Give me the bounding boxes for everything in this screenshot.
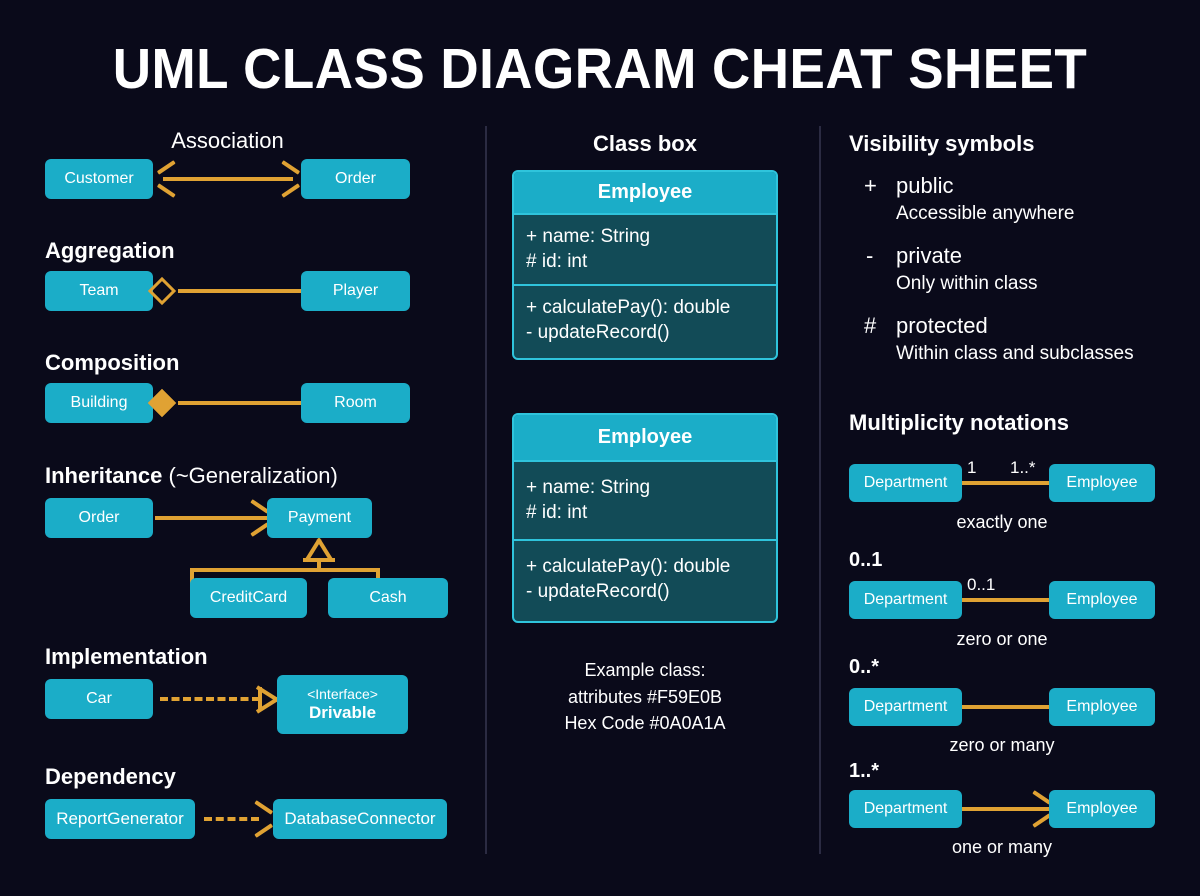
mult-label-from-1: 1 bbox=[967, 458, 976, 478]
section-heading-composition: Composition bbox=[45, 350, 179, 376]
caption-line-3: Hex Code #0A0A1A bbox=[512, 710, 778, 737]
class-box-reportgenerator[interactable]: ReportGenerator bbox=[45, 799, 195, 839]
class-box-order[interactable]: Order bbox=[301, 159, 410, 199]
section-heading-class-box: Class box bbox=[510, 131, 780, 157]
section-heading-multiplicity: Multiplicity notations bbox=[849, 410, 1069, 436]
visibility-name-private: private bbox=[896, 243, 962, 269]
class-box-payment[interactable]: Payment bbox=[267, 498, 372, 538]
class-box-car[interactable]: Car bbox=[45, 679, 153, 719]
implementation-dashed-line bbox=[160, 697, 260, 701]
section-heading-aggregation: Aggregation bbox=[45, 238, 175, 264]
attribute-row: # id: int bbox=[526, 249, 764, 274]
section-heading-dependency: Dependency bbox=[45, 764, 176, 790]
class-box-caption: Example class: attributes #F59E0B Hex Co… bbox=[512, 657, 778, 737]
mult-box-employee-3[interactable]: Employee bbox=[1049, 688, 1155, 726]
visibility-symbol-protected: # bbox=[864, 313, 890, 339]
method-row: - updateRecord() bbox=[526, 579, 764, 604]
mult-label-to-1: 1..* bbox=[1010, 458, 1036, 478]
mult-box-department-3[interactable]: Department bbox=[849, 688, 962, 726]
class-box-drivable[interactable]: <Interface> Drivable bbox=[277, 675, 408, 734]
class-box-employee-1[interactable]: Employee + name: String # id: int + calc… bbox=[512, 170, 778, 360]
mult-box-department-2[interactable]: Department bbox=[849, 581, 962, 619]
cheat-sheet-page: UML CLASS DIAGRAM CHEAT SHEET Associatio… bbox=[0, 0, 1200, 896]
class-box-2-name: Employee bbox=[514, 415, 776, 460]
mult-arrowhead-4 bbox=[1030, 798, 1050, 820]
method-row: + calculatePay(): double bbox=[526, 554, 764, 579]
class-box-player[interactable]: Player bbox=[301, 271, 410, 311]
section-heading-visibility: Visibility symbols bbox=[849, 131, 1034, 157]
visibility-name-protected: protected bbox=[896, 313, 988, 339]
association-line bbox=[163, 177, 293, 181]
visibility-symbol-private: - bbox=[866, 243, 892, 269]
caption-line-1: Example class: bbox=[512, 657, 778, 684]
inheritance-sublabel: (~Generalization) bbox=[169, 463, 338, 488]
mult-box-employee-1[interactable]: Employee bbox=[1049, 464, 1155, 502]
visibility-desc-public: Accessible anywhere bbox=[896, 203, 1074, 225]
class-box-order-inherit[interactable]: Order bbox=[45, 498, 153, 538]
composition-line bbox=[178, 401, 302, 405]
class-box-1-methods: + calculatePay(): double - updateRecord(… bbox=[514, 284, 776, 355]
interface-name: Drivable bbox=[309, 703, 376, 723]
section-heading-association: Association bbox=[45, 128, 410, 154]
mult-box-department-4[interactable]: Department bbox=[849, 790, 962, 828]
attribute-row: + name: String bbox=[526, 224, 764, 249]
class-box-databaseconnector[interactable]: DatabaseConnector bbox=[273, 799, 447, 839]
inheritance-arrowhead bbox=[248, 507, 268, 529]
column-divider-right bbox=[819, 126, 821, 854]
mult-caption-1: exactly one bbox=[849, 512, 1155, 533]
aggregation-line bbox=[178, 289, 302, 293]
class-box-2-methods: + calculatePay(): double - updateRecord(… bbox=[514, 539, 776, 618]
mult-caption-3: zero or many bbox=[849, 735, 1155, 756]
class-box-employee-2[interactable]: Employee + name: String # id: int + calc… bbox=[512, 413, 778, 623]
mult-header-2: 0..1 bbox=[849, 549, 882, 572]
section-heading-inheritance: Inheritance (~Generalization) bbox=[45, 463, 338, 489]
association-arrowhead-right bbox=[279, 168, 299, 190]
attribute-row: # id: int bbox=[526, 500, 764, 525]
inheritance-label: Inheritance bbox=[45, 463, 162, 488]
visibility-desc-protected: Within class and subclasses bbox=[896, 343, 1134, 365]
attribute-row: + name: String bbox=[526, 475, 764, 500]
mult-header-4: 1..* bbox=[849, 760, 879, 783]
visibility-name-public: public bbox=[896, 173, 953, 199]
class-box-cash[interactable]: Cash bbox=[328, 578, 448, 618]
class-box-team[interactable]: Team bbox=[45, 271, 153, 311]
class-box-1-attributes: + name: String # id: int bbox=[514, 213, 776, 284]
dependency-arrowhead bbox=[252, 808, 272, 830]
method-row: + calculatePay(): double bbox=[526, 295, 764, 320]
mult-line-2 bbox=[962, 598, 1049, 602]
class-box-1-name: Employee bbox=[514, 172, 776, 213]
mult-label-from-2: 0..1 bbox=[967, 575, 995, 595]
method-row: - updateRecord() bbox=[526, 320, 764, 345]
implementation-triangle-base bbox=[258, 687, 262, 711]
class-box-building[interactable]: Building bbox=[45, 383, 153, 423]
visibility-symbol-public: + bbox=[864, 173, 890, 199]
mult-caption-4: one or many bbox=[849, 837, 1155, 858]
caption-line-2: attributes #F59E0B bbox=[512, 684, 778, 711]
section-heading-implementation: Implementation bbox=[45, 644, 208, 670]
column-divider-left bbox=[485, 126, 487, 854]
mult-box-employee-2[interactable]: Employee bbox=[1049, 581, 1155, 619]
visibility-desc-private: Only within class bbox=[896, 273, 1038, 295]
mult-box-department-1[interactable]: Department bbox=[849, 464, 962, 502]
mult-header-3: 0..* bbox=[849, 656, 879, 679]
page-title: UML CLASS DIAGRAM CHEAT SHEET bbox=[42, 36, 1158, 102]
mult-box-employee-4[interactable]: Employee bbox=[1049, 790, 1155, 828]
class-box-creditcard[interactable]: CreditCard bbox=[190, 578, 307, 618]
generalization-crossbar bbox=[190, 568, 380, 572]
mult-caption-2: zero or one bbox=[849, 629, 1155, 650]
mult-line-3 bbox=[962, 705, 1049, 709]
dependency-dashed-line bbox=[204, 817, 259, 821]
class-box-room[interactable]: Room bbox=[301, 383, 410, 423]
mult-line-1 bbox=[962, 481, 1049, 485]
interface-stereotype: <Interface> bbox=[307, 686, 378, 703]
class-box-customer[interactable]: Customer bbox=[45, 159, 153, 199]
class-box-2-attributes: + name: String # id: int bbox=[514, 460, 776, 539]
association-arrowhead-left bbox=[158, 168, 178, 190]
